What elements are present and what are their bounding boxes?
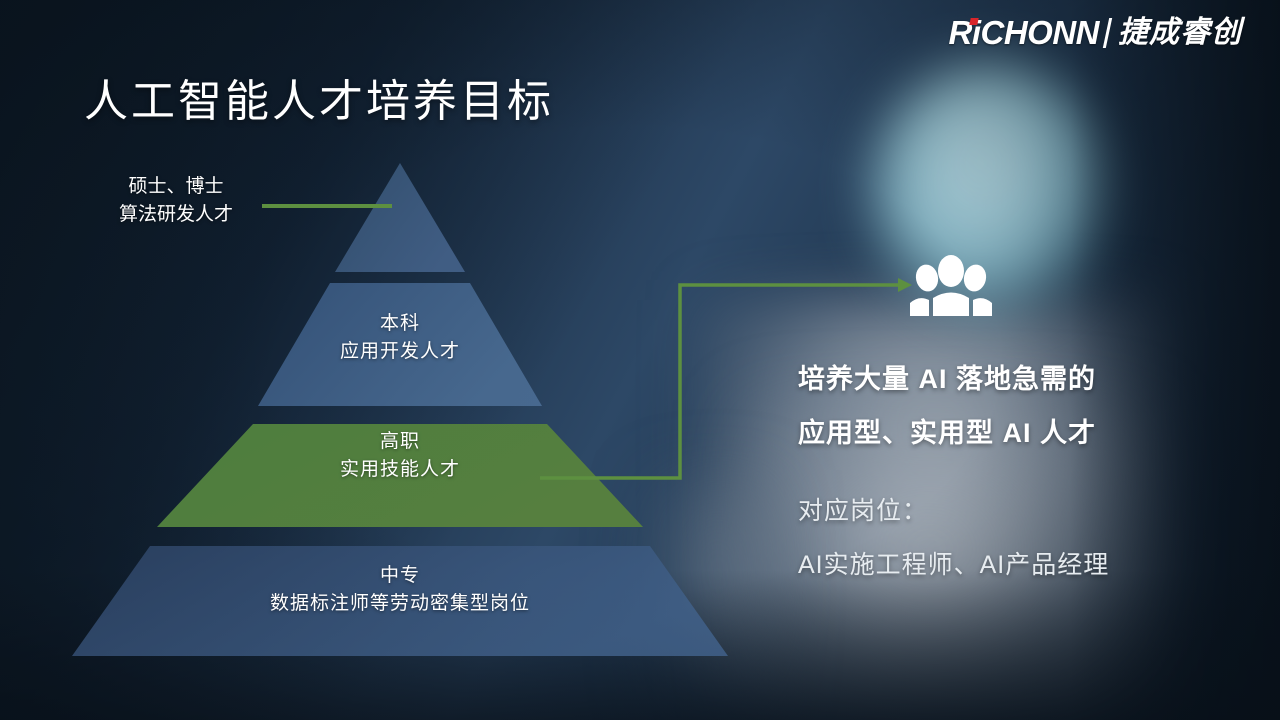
people-group-icon: [910, 254, 992, 316]
apex-annotation: 硕士、博士 算法研发人才: [86, 172, 266, 228]
right-subhead: 对应岗位：: [798, 484, 1228, 538]
right-positions: AI实施工程师、AI产品经理: [798, 538, 1228, 592]
logo-red-dot-icon: [969, 18, 978, 25]
page-title: 人工智能人才培养目标: [84, 76, 554, 129]
pyramid-tier-2-bachelor[interactable]: [258, 283, 542, 406]
logo-chinese-text: 捷成睿创: [1118, 18, 1242, 48]
right-headline-line1: 培养大量 AI 落地急需的: [798, 352, 1218, 406]
right-headline: 培养大量 AI 落地急需的 应用型、实用型 AI 人才: [798, 352, 1218, 460]
apex-annotation-line2: 算法研发人才: [86, 200, 266, 228]
apex-leader-line: [262, 204, 392, 208]
pyramid-tier-3-vocational[interactable]: [157, 424, 643, 527]
right-headline-line2: 应用型、实用型 AI 人才: [798, 406, 1218, 460]
pyramid-tier-4-secondary[interactable]: [72, 546, 728, 656]
brand-logo: RiCHONN 捷成睿创: [949, 16, 1243, 49]
right-subtext: 对应岗位： AI实施工程师、AI产品经理: [798, 484, 1228, 592]
slide-canvas: RiCHONN 捷成睿创 人工智能人才培养目标: [0, 0, 1280, 720]
apex-annotation-line1: 硕士、博士: [86, 172, 266, 200]
pyramid-tier-1-apex[interactable]: [335, 163, 465, 272]
logo-divider: [1103, 18, 1112, 48]
